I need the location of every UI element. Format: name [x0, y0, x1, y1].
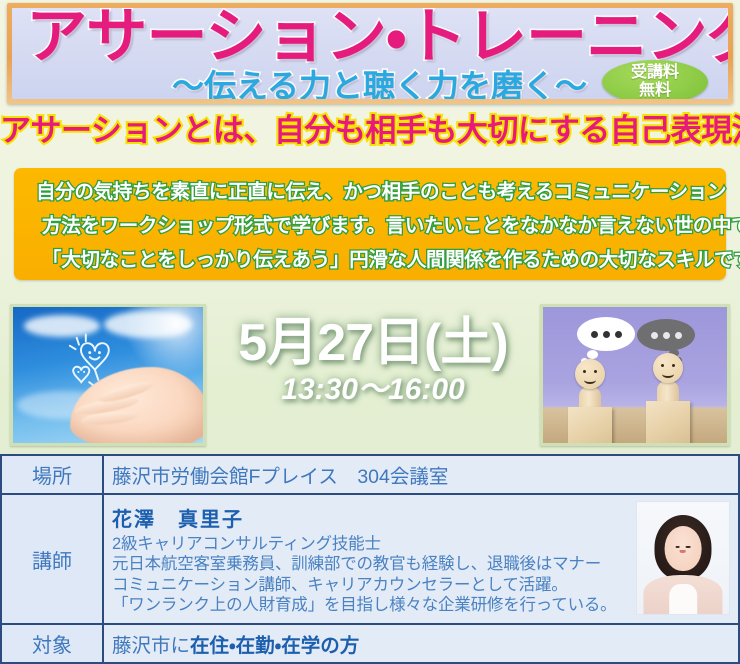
table-row-target: 対象 藤沢市に在住・在勤・在学の方 [1, 624, 739, 663]
lecturer-bio-line-1: 元日本航空客室乗務員、訓練部での教官も経験し、退職後はマナー [112, 554, 630, 575]
eye-shape [676, 546, 680, 548]
lecturer-label: 講師 [1, 494, 103, 624]
rainbow-sky-hand-image [10, 304, 206, 446]
lecturer-qualification: 2級キャリアコンサルティング技能士 [112, 534, 630, 555]
description-line-2: 方法をワークショップ形式で学びます。言いたいことをなかなか言えない世の中で [28, 213, 712, 240]
eye-shape [686, 546, 690, 548]
bubble-tail [587, 350, 598, 359]
title-banner: アサーション・トレーニング 〜伝える力と聴く力を磨く〜 受講料 無料 [7, 3, 733, 104]
target-emphasis: 在住・在勤・在学の方 [190, 635, 359, 657]
event-info-table: 場所 藤沢市労働会館Fプレイス 304会議室 講師 花澤 真里子 2級キャリアコ… [0, 454, 740, 664]
mouth-shape [680, 550, 686, 552]
peg-figures-image [540, 304, 730, 446]
fee-badge-value: 無料 [639, 82, 671, 99]
lecturer-bio-line-3: 「ワンランク上の人財育成」を目指し様々な企業研修を行っている。 [112, 595, 630, 616]
target-value: 藤沢市に在住・在勤・在学の方 [103, 624, 739, 663]
description-line-3: 「大切なことをしっかり伝えあう」円滑な人間関係を作るための大切なスキルです。 [28, 247, 712, 274]
fee-badge-label: 受講料 [631, 64, 679, 82]
lecturer-text-block: 花澤 真里子 2級キャリアコンサルティング技能士 元日本航空客室乗務員、訓練部で… [112, 503, 630, 616]
lecturer-portrait-photo [636, 501, 730, 615]
thought-bubble-gray-icon [637, 319, 695, 351]
table-row-venue: 場所 藤沢市労働会館Fプレイス 304会議室 [1, 455, 739, 494]
wooden-block-left [568, 407, 612, 446]
event-time: 13:30〜16:00 [206, 372, 540, 408]
page-title: アサーション・トレーニング [26, 8, 728, 70]
lecturer-value: 花澤 真里子 2級キャリアコンサルティング技能士 元日本航空客室乗務員、訓練部で… [103, 494, 739, 624]
lecturer-name: 花澤 真里子 [112, 503, 630, 532]
venue-label: 場所 [1, 455, 103, 494]
lead-headline: アサーションとは、自分も相手も大切にする自己表現法です。 [0, 112, 740, 150]
target-prefix: 藤沢市に [112, 635, 190, 657]
event-date-block: 5月27日(土) 13:30〜16:00 [206, 314, 540, 408]
page-subtitle: 〜伝える力と聴く力を磨く〜 [172, 68, 632, 99]
table-row-lecturer: 講師 花澤 真里子 2級キャリアコンサルティング技能士 元日本航空客室乗務員、訓… [1, 494, 739, 624]
face-shape [665, 526, 702, 571]
wooden-block-right [646, 401, 690, 445]
lecturer-bio-line-2: コミュニケーション講師、キャリアカウンセラーとして活躍。 [112, 575, 630, 596]
description-box: 自分の気持ちを素直に正直に伝え、かつ相手のことも考えるコミュニケーション 方法を… [14, 168, 726, 280]
venue-value: 藤沢市労働会館Fプレイス 304会議室 [103, 455, 739, 494]
fee-badge: 受講料 無料 [602, 60, 708, 99]
inner-top-shape [669, 584, 697, 613]
title-banner-inner: アサーション・トレーニング 〜伝える力と聴く力を磨く〜 受講料 無料 [12, 8, 728, 99]
date-strip: 5月27日(土) 13:30〜16:00 [0, 296, 740, 454]
thought-bubble-white-icon [577, 317, 635, 351]
description-line-1: 自分の気持ちを素直に正直に伝え、かつ相手のことも考えるコミュニケーション [28, 179, 712, 206]
event-date: 5月27日(土) [206, 314, 540, 372]
target-label: 対象 [1, 624, 103, 663]
